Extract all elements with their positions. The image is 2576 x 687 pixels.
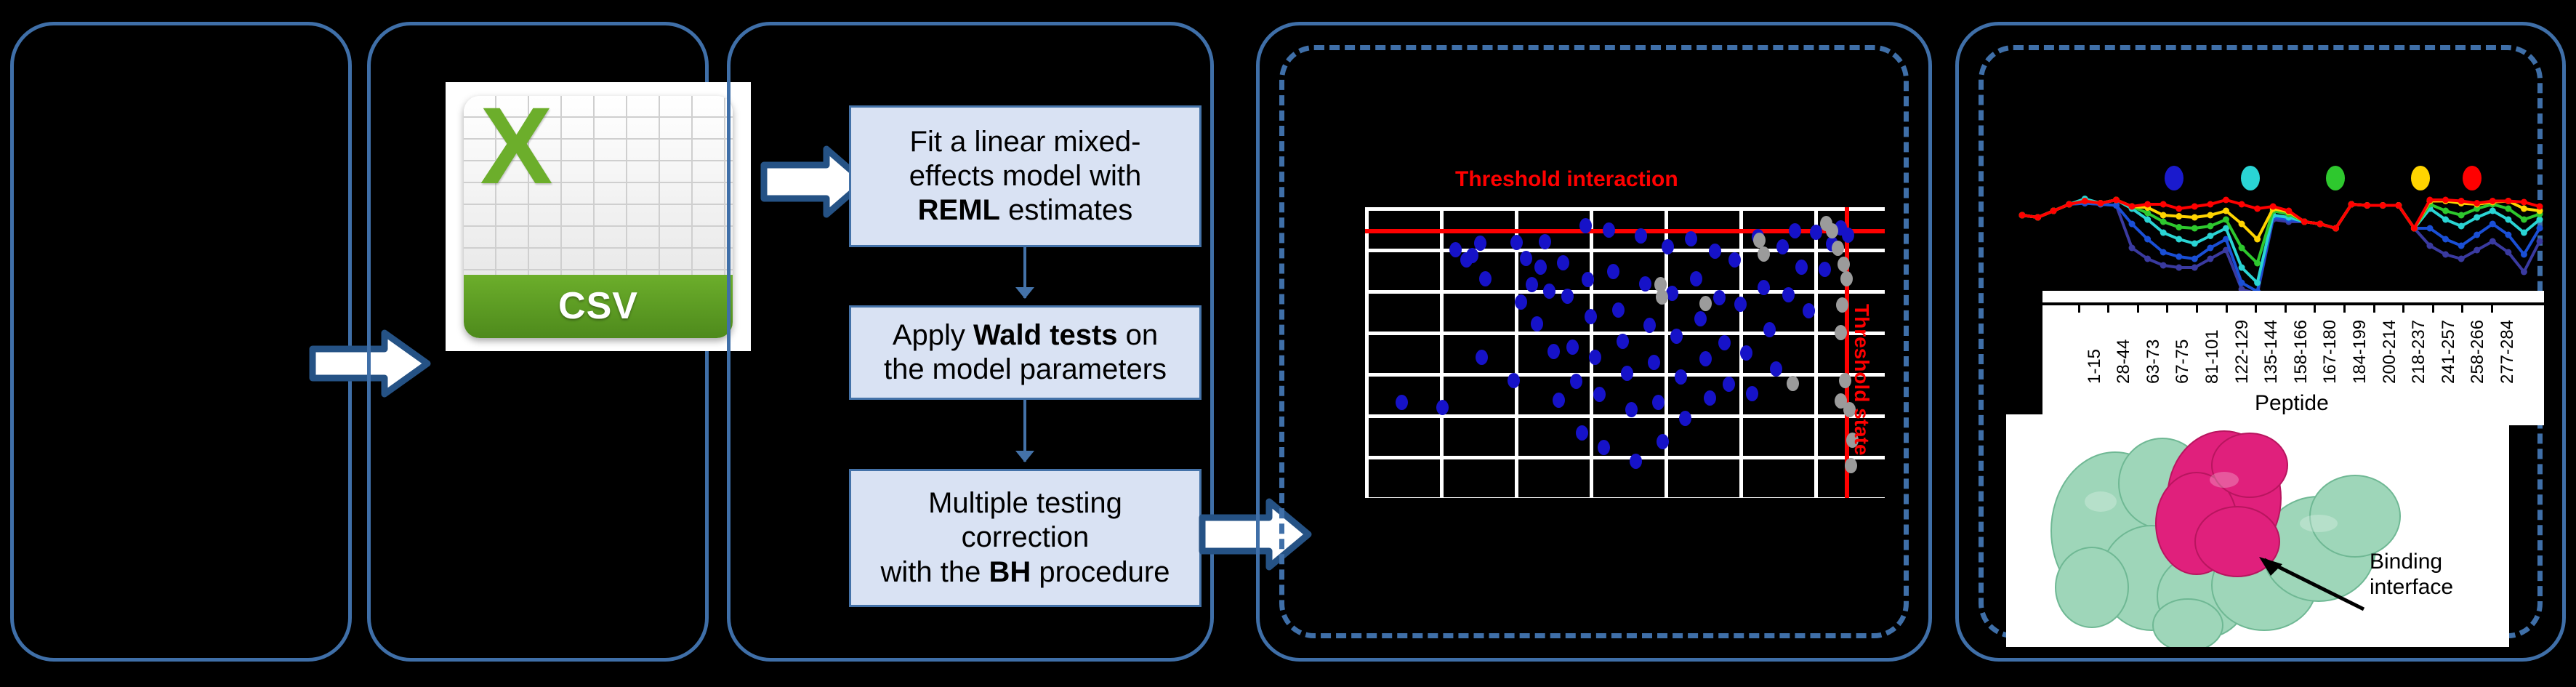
data-point (1795, 260, 1808, 275)
data-point (1449, 242, 1462, 257)
data-point (1657, 434, 1669, 449)
axis-tick (2343, 302, 2346, 313)
data-point (1566, 340, 1579, 355)
data-point (1603, 222, 1615, 238)
protein-surface-render (2006, 414, 2509, 647)
peptide-tick-label: 67-75 (2173, 340, 2193, 384)
data-point (1685, 231, 1697, 246)
data-point (1534, 260, 1547, 275)
data-point (1612, 302, 1625, 318)
axis-line (2042, 302, 2544, 305)
data-point (1819, 262, 1831, 277)
threshold-state-label: Threshold state (1850, 304, 1873, 455)
axis-tick (2285, 302, 2287, 313)
data-point (1787, 376, 1799, 391)
data-point (1776, 239, 1789, 254)
panel-input (10, 22, 352, 662)
data-point (1670, 329, 1683, 344)
data-point (1728, 252, 1741, 268)
data-point (1396, 395, 1408, 410)
peptide-tick-label: 158-166 (2291, 320, 2311, 384)
peptide-tick-label: 122-129 (2232, 320, 2253, 384)
data-point (1740, 345, 1752, 361)
x-axis-title: Peptide (2255, 391, 2329, 416)
connector-model-to-wald (1023, 247, 1026, 298)
peptide-tick-label: 218-237 (2409, 320, 2429, 384)
peptide-axis-strip: 0.0 1-1528-4463-7367-7581-101122-129135-… (2042, 291, 2544, 425)
axis-tick (2432, 302, 2434, 313)
data-point (1656, 289, 1668, 305)
data-point (1607, 264, 1619, 279)
binding-interface-line2: interface (2370, 575, 2453, 600)
data-point (1694, 311, 1707, 326)
peptide-tick-label: 1-15 (2085, 349, 2105, 384)
peptide-tick-label: 63-73 (2144, 340, 2164, 384)
axis-tick (2196, 302, 2198, 313)
data-point (1709, 244, 1721, 259)
step-model-line3-post: estimates (1000, 194, 1132, 226)
data-point (1826, 223, 1838, 238)
data-point (1840, 271, 1853, 286)
axis-tick (2402, 302, 2404, 313)
peptide-tick-label: 258-266 (2468, 320, 2488, 384)
data-point (1598, 440, 1610, 455)
step-fit-model-box[interactable]: Fit a linear mixed- effects model with R… (849, 105, 1202, 247)
data-point (1723, 377, 1735, 392)
data-point (1474, 236, 1486, 251)
step-correction-bold: BH (989, 556, 1031, 588)
peptide-tick-label: 167-180 (2320, 320, 2340, 384)
peptide-tick-label: 241-257 (2439, 320, 2459, 384)
peptide-line-chart (2018, 178, 2544, 302)
plot-gridlines (1365, 207, 1885, 498)
data-point (1770, 361, 1782, 377)
data-point (1679, 411, 1691, 426)
step-model-line2: effects model with (909, 160, 1141, 192)
data-point (1617, 334, 1629, 349)
binding-interface-line1: Binding (2370, 550, 2453, 575)
data-point (1635, 228, 1647, 244)
data-point (1838, 257, 1850, 272)
data-point (1643, 318, 1656, 333)
step-model-bold: REML (918, 194, 1000, 226)
peptide-tick-label: 200-214 (2380, 320, 2400, 384)
axis-tick (2107, 302, 2109, 313)
data-point (1835, 325, 1847, 340)
data-point (1803, 303, 1815, 318)
data-point (1690, 271, 1702, 286)
data-point (1753, 233, 1766, 248)
peptide-tick-label: 184-199 (2350, 320, 2370, 384)
data-point (1585, 309, 1597, 324)
peptide-tick-label: 135-144 (2261, 320, 2282, 384)
data-point (1515, 294, 1527, 310)
data-point (1699, 351, 1712, 366)
axis-tick (2137, 302, 2139, 313)
axis-tick (2255, 302, 2257, 313)
data-point (1570, 374, 1582, 389)
data-point (1526, 277, 1538, 292)
data-point (1466, 248, 1478, 263)
data-point (1652, 395, 1665, 410)
step-correction-line2: correction (962, 521, 1090, 553)
data-point (1561, 289, 1574, 304)
peptide-tick-label: 81-101 (2202, 329, 2223, 384)
data-point (1589, 350, 1601, 365)
data-point (1734, 297, 1747, 312)
data-point (1553, 393, 1565, 408)
protein-structure-figure: Binding interface (2006, 414, 2509, 647)
data-point (1543, 284, 1555, 299)
step-model-line1: Fit a linear mixed- (910, 126, 1141, 158)
connector-wald-to-correction (1023, 400, 1026, 462)
data-point (1539, 234, 1551, 249)
data-point (1576, 425, 1588, 441)
binding-interface-annotation: Binding interface (2370, 550, 2453, 600)
peptide-tick-label: 28-44 (2114, 340, 2134, 384)
data-point (1713, 290, 1726, 305)
step-correction-line3-pre: with the (881, 556, 989, 588)
data-point (1704, 390, 1716, 406)
data-point (1836, 297, 1848, 313)
threshold-interaction-line (1365, 229, 1885, 233)
data-point (1758, 246, 1770, 262)
step-wald-line1-post: on (1118, 319, 1159, 351)
data-point (1547, 344, 1560, 359)
threshold-interaction-label: Threshold interaction (1455, 167, 1678, 192)
csv-file-card: X CSV (446, 82, 751, 351)
threshold-state-line (1845, 207, 1849, 498)
csv-file-icon: X CSV (464, 96, 733, 338)
peptide-tick-label: 277-284 (2497, 320, 2518, 384)
data-point (1746, 386, 1758, 401)
step-wald-box[interactable]: Apply Wald tests on the model parameters (849, 305, 1202, 400)
data-point (1630, 454, 1642, 469)
data-point (1520, 251, 1532, 266)
data-point (1593, 387, 1606, 402)
data-point (1718, 335, 1731, 350)
step-correction-line1: Multiple testing (928, 487, 1122, 519)
step-correction-line3-post: procedure (1031, 556, 1170, 588)
data-point (1832, 241, 1844, 256)
data-point (1845, 458, 1857, 473)
excel-x-letter: X (480, 96, 552, 200)
data-point (1763, 322, 1776, 337)
csv-band-label: CSV (558, 284, 638, 328)
data-point (1662, 239, 1674, 254)
axis-tick (2461, 302, 2463, 313)
data-point (1782, 287, 1795, 302)
step-wald-bold: Wald tests (973, 319, 1118, 351)
y-tick-label: 0.0 (1990, 286, 2018, 310)
step-correction-box[interactable]: Multiple testing correction with the BH … (849, 469, 1202, 607)
csv-label-band: CSV (464, 275, 733, 338)
axis-tick (2373, 302, 2375, 313)
data-point (1648, 355, 1660, 370)
axis-tick (2314, 302, 2316, 313)
data-point (1510, 235, 1523, 250)
data-point (1476, 350, 1488, 365)
volcano-plot (1365, 207, 1885, 498)
data-point (1699, 296, 1712, 311)
axis-tick (2491, 302, 2493, 313)
data-point (1579, 218, 1592, 233)
data-point (1675, 369, 1687, 385)
data-point (1621, 366, 1633, 381)
data-point (1789, 223, 1801, 238)
step-wald-line2: the model parameters (884, 353, 1167, 385)
step-wald-line1-pre: Apply (893, 319, 973, 351)
axis-tick (2078, 302, 2080, 313)
axis-tick (2166, 302, 2168, 313)
axis-tick (2226, 302, 2228, 313)
data-point (1531, 316, 1543, 332)
data-point (1758, 280, 1770, 295)
data-point (1582, 272, 1594, 287)
data-point (1639, 276, 1651, 292)
data-point (1436, 400, 1449, 415)
data-point (1557, 255, 1569, 270)
data-point (1479, 271, 1492, 286)
data-point (1842, 228, 1854, 243)
data-point (1625, 402, 1638, 417)
data-point (1508, 373, 1520, 388)
